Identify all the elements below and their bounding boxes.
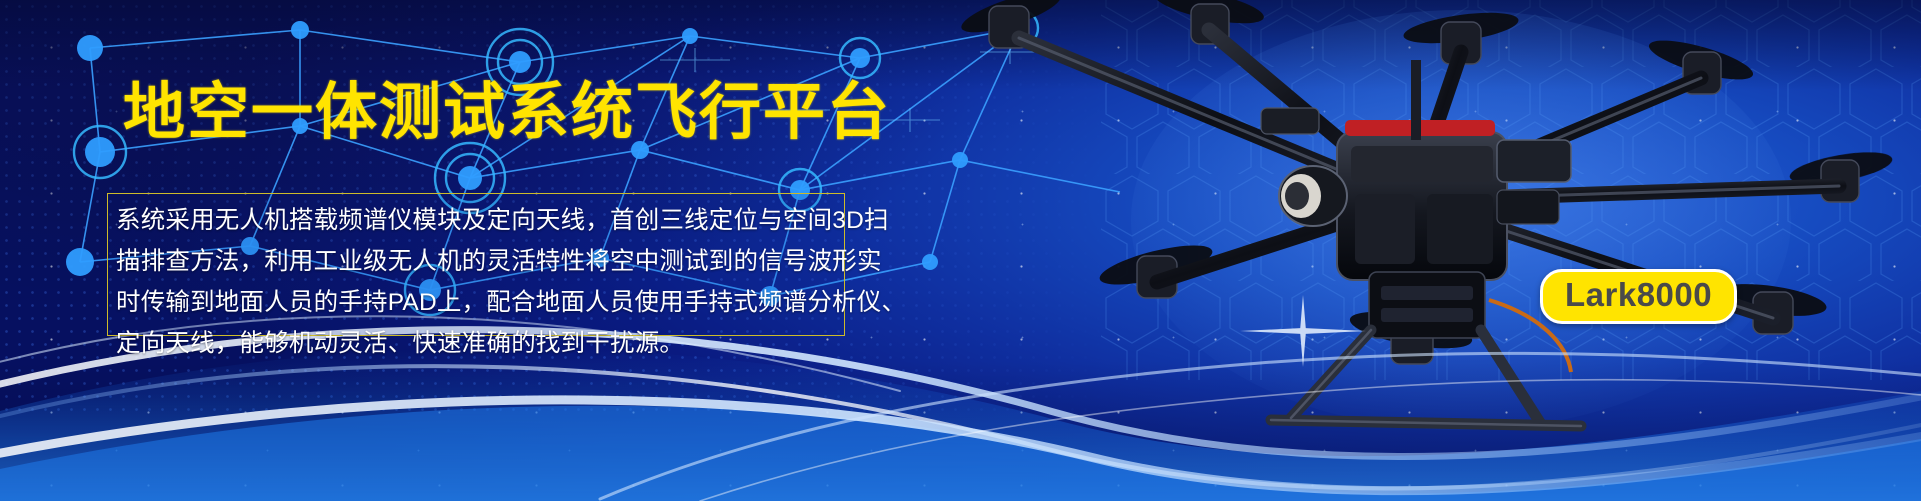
page-title: 地空一体测试系统飞行平台 xyxy=(123,82,891,144)
description-line-1: 系统采用无人机搭载频谱仪模块及定向天线，首创三线定位与空间3D扫 xyxy=(116,200,842,241)
description-text: 系统采用无人机搭载频谱仪模块及定向天线，首创三线定位与空间3D扫 描排查方法，利… xyxy=(116,200,842,364)
product-model-badge: Lark8000 xyxy=(1540,269,1737,324)
description-line-2: 描排查方法，利用工业级无人机的灵活特性将空中测试到的信号波形实 xyxy=(116,241,842,282)
description-line-4: 定向天线，能够机动灵活、快速准确的找到干扰源。 xyxy=(116,323,842,364)
banner-text-content: 地空一体测试系统飞行平台 系统采用无人机搭载频谱仪模块及定向天线，首创三线定位与… xyxy=(0,0,900,501)
description-line-3: 时传输到地面人员的手持PAD上，配合地面人员使用手持式频谱分析仪、 xyxy=(116,282,842,323)
product-banner: 地空一体测试系统飞行平台 系统采用无人机搭载频谱仪模块及定向天线，首创三线定位与… xyxy=(0,0,1921,501)
